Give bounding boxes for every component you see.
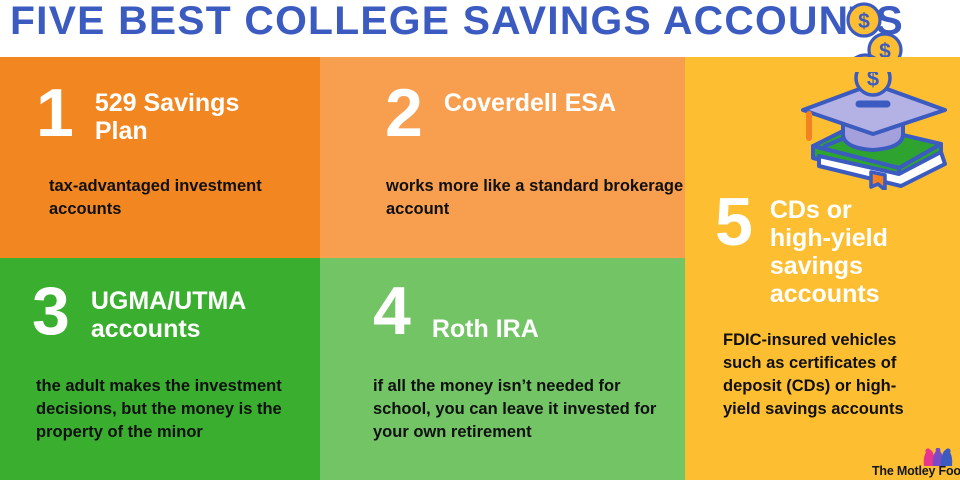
item-2-body: works more like a standard brokerage acc…: [386, 175, 686, 221]
item-2-title: Coverdell ESA: [444, 89, 624, 117]
item-2-number: 2: [385, 83, 422, 143]
item-1-title: 529 Savings Plan: [95, 89, 265, 145]
item-4-number: 4: [373, 281, 410, 341]
item-1-heading: 1 529 Savings Plan: [36, 83, 265, 145]
page-title: FIVE BEST COLLEGE SAVINGS ACCOUNTS: [10, 0, 904, 44]
item-4-title: Roth IRA: [432, 315, 602, 343]
item-3-number: 3: [32, 281, 69, 341]
graduation-cap-and-books-icon: $: [795, 72, 955, 190]
motley-fool-wordmark: The Motley Fool: [872, 464, 960, 478]
item-1-number: 1: [36, 83, 73, 143]
item-2-heading: 2 Coverdell ESA: [385, 83, 624, 143]
svg-text:$: $: [867, 72, 879, 91]
item-4-body: if all the money isn’t needed for school…: [373, 375, 673, 444]
item-5-body: FDIC-insured vehicles such as certificat…: [723, 329, 928, 421]
item-5-heading: 5 CDs or high-yield savings accounts: [715, 192, 910, 308]
item-4-heading: 4 Roth IRA: [373, 281, 602, 343]
item-5-title: CDs or high-yield savings accounts: [770, 196, 910, 308]
item-3-heading: 3 UGMA/UTMA accounts: [32, 281, 281, 343]
svg-text:$: $: [858, 10, 870, 33]
motley-fool-logo: The Motley Fool: [872, 448, 954, 478]
item-3-body: the adult makes the investment decisions…: [36, 375, 321, 444]
item-1-body: tax-advantaged investment accounts: [49, 175, 299, 221]
item-5-number: 5: [715, 192, 752, 252]
item-3-title: UGMA/UTMA accounts: [91, 287, 281, 343]
